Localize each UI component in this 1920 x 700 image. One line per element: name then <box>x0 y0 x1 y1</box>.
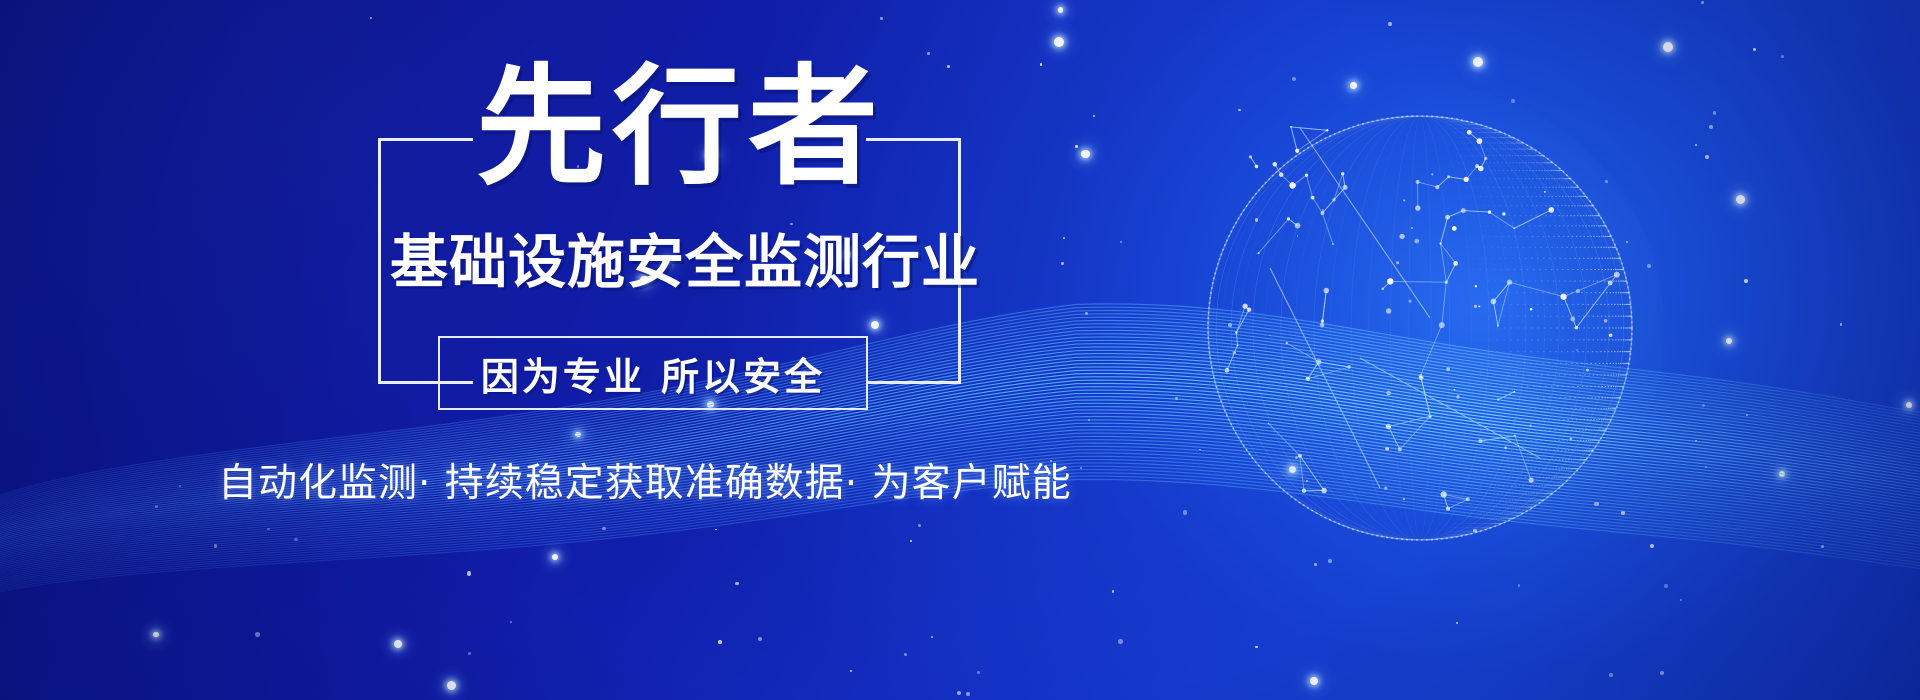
globe-network-node <box>1290 126 1292 128</box>
star-dot <box>1701 1 1704 4</box>
globe-network-node <box>1415 205 1420 210</box>
globe-network-node <box>1560 294 1566 300</box>
globe-network-node <box>1477 138 1483 144</box>
globe-network-node <box>1447 175 1450 178</box>
globe-network-node <box>1249 155 1252 158</box>
globe-network-node <box>1464 177 1469 182</box>
star-dot <box>1473 57 1483 67</box>
globe-network-node <box>1484 157 1487 160</box>
banner-content: 先行者 基础设施安全监测行业 因为专业 所以安全 自动化监测· 持续稳定获取准确… <box>0 0 1100 700</box>
star-dot <box>1744 279 1748 283</box>
page-title: 先行者 <box>470 52 890 202</box>
star-dot <box>1695 144 1697 146</box>
globe-network-node <box>1321 211 1325 215</box>
slogan-box: 因为专业 所以安全 <box>438 336 868 410</box>
globe-network-node <box>1445 215 1450 220</box>
star-dot <box>1781 55 1784 58</box>
globe-network-node <box>1416 180 1420 184</box>
globe-network-node <box>1332 243 1334 245</box>
globe-network-node <box>1513 227 1515 229</box>
globe-network-node <box>1295 223 1301 229</box>
globe-network-node <box>1507 280 1512 285</box>
star-dot <box>1705 155 1709 159</box>
globe-network-node <box>1273 162 1278 167</box>
star-dot <box>1713 111 1717 115</box>
hero-banner: 先行者 基础设施安全监测行业 因为专业 所以安全 自动化监测· 持续稳定获取准确… <box>0 0 1920 700</box>
globe-network-node <box>1445 281 1448 284</box>
globe-network-node <box>1257 252 1259 254</box>
globe-network-node <box>1614 272 1620 278</box>
globe-network-node <box>1289 182 1296 189</box>
globe-network-node <box>1326 129 1328 131</box>
globe-network-node <box>1488 210 1491 213</box>
globe-network-node <box>1387 278 1393 284</box>
globe-network-node <box>1548 207 1554 213</box>
globe-network-node <box>1295 149 1299 153</box>
globe-network-node <box>1381 288 1384 291</box>
globe-network-node <box>1311 196 1315 200</box>
tagline: 自动化监测· 持续稳定获取准确数据· 为客户赋能 <box>218 458 1078 510</box>
page-subtitle: 基础设施安全监测行业 <box>390 222 950 302</box>
globe-network-node <box>1343 185 1348 190</box>
star-dot <box>1736 195 1745 204</box>
globe-network-node <box>1461 208 1466 213</box>
globe-network-node <box>1467 130 1472 135</box>
globe-network-node <box>1287 217 1290 220</box>
star-dot <box>1663 42 1673 52</box>
globe-network-node <box>1324 288 1330 294</box>
globe-network-node <box>1478 166 1484 172</box>
globe-network-node <box>1279 172 1284 177</box>
globe-network-node <box>1341 172 1344 175</box>
globe-network-node <box>1305 174 1308 177</box>
globe-network-node <box>1255 165 1259 169</box>
star-dot <box>1709 125 1713 129</box>
globe-network-node <box>1439 242 1441 244</box>
star-dot <box>1388 22 1392 26</box>
globe-network-node <box>1332 198 1335 201</box>
slogan-text: 因为专业 所以安全 <box>481 346 825 401</box>
globe-network-node <box>1435 185 1439 189</box>
star-dot <box>1120 241 1122 243</box>
globe-network-node <box>1453 261 1458 266</box>
star-dot <box>1753 48 1756 51</box>
